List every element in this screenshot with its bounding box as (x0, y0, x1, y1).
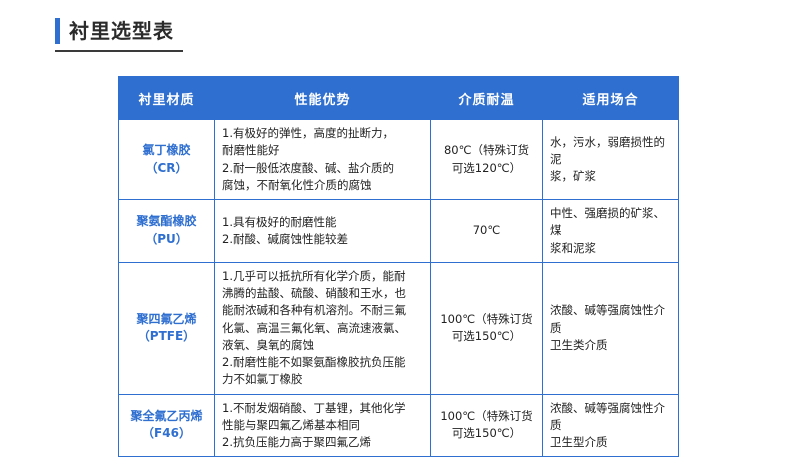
lining-selection-table: 衬里材质 性能优势 介质耐温 适用场合 氯丁橡胶 （CR） 1.有极好的弹性，高… (118, 76, 679, 457)
scene-line: 水，污水，弱磨损性的泥 (550, 134, 671, 169)
cell-material: 氯丁橡胶 （CR） (119, 120, 215, 200)
page-root: 衬里选型表 衬里材质 性能优势 介质耐温 适用场合 氯丁橡胶 （CR） (0, 0, 790, 423)
performance-line: 1.具有极好的耐磨性能 (222, 214, 423, 231)
table-row: 聚氨酯橡胶 （PU） 1.具有极好的耐磨性能 2.耐酸、碱腐蚀性能较差 70℃ … (119, 200, 679, 263)
material-line: （PTFE） (126, 328, 207, 345)
performance-line: 2.抗负压能力高于聚四氟乙烯 (222, 434, 423, 451)
performance-line: 沸腾的盐酸、硫酸、硝酸和王水，也 (222, 285, 423, 302)
table-row: 氯丁橡胶 （CR） 1.有极好的弹性，高度的扯断力， 耐磨性能好 2.耐一般低浓… (119, 120, 679, 200)
performance-line: 液氧、臭氧的腐蚀 (222, 337, 423, 354)
table-row: 聚四氟乙烯 （PTFE） 1.几乎可以抵抗所有化学介质，能耐 沸腾的盐酸、硫酸、… (119, 262, 679, 394)
cell-performance: 1.几乎可以抵抗所有化学介质，能耐 沸腾的盐酸、硫酸、硝酸和王水，也 能耐浓碱和… (215, 262, 431, 394)
material-line: （PU） (126, 231, 207, 248)
cell-temperature: 100℃（特殊订货 可选150℃） (431, 394, 543, 457)
table-header-row: 衬里材质 性能优势 介质耐温 适用场合 (119, 77, 679, 120)
performance-line: 化氯、高温三氟化氧、高流速液氯、 (222, 320, 423, 337)
table-body: 氯丁橡胶 （CR） 1.有极好的弹性，高度的扯断力， 耐磨性能好 2.耐一般低浓… (119, 120, 679, 457)
material-line: 聚氨酯橡胶 (126, 213, 207, 230)
column-header-material: 衬里材质 (119, 77, 215, 120)
scene-line: 浆，矿浆 (550, 168, 671, 185)
cell-temperature: 70℃ (431, 200, 543, 263)
column-header-scene: 适用场合 (543, 77, 679, 120)
performance-line: 2.耐酸、碱腐蚀性能较差 (222, 231, 423, 248)
table-header: 衬里材质 性能优势 介质耐温 适用场合 (119, 77, 679, 120)
table-row: 聚全氟乙丙烯 （F46） 1.不耐发烟硝酸、丁基锂，其他化学 性能与聚四氟乙烯基… (119, 394, 679, 457)
material-line: 氯丁橡胶 (126, 142, 207, 159)
column-header-temperature: 介质耐温 (431, 77, 543, 120)
temperature-line: 可选120℃） (438, 160, 535, 177)
cell-scene: 水，污水，弱磨损性的泥 浆，矿浆 (543, 120, 679, 200)
material-line: （F46） (126, 425, 207, 442)
cell-scene: 浓酸、碱等强腐蚀性介质 卫生类介质 (543, 262, 679, 394)
cell-material: 聚四氟乙烯 （PTFE） (119, 262, 215, 394)
column-header-performance: 性能优势 (215, 77, 431, 120)
performance-line: 性能与聚四氟乙烯基本相同 (222, 417, 423, 434)
temperature-line: 80℃（特殊订货 (438, 142, 535, 159)
temperature-line: 100℃（特殊订货 (438, 311, 535, 328)
performance-line: 1.不耐发烟硝酸、丁基锂，其他化学 (222, 400, 423, 417)
cell-scene: 浓酸、碱等强腐蚀性介质 卫生型介质 (543, 394, 679, 457)
title-underline (55, 50, 183, 52)
cell-scene: 中性、强磨损的矿浆、煤 浆和泥浆 (543, 200, 679, 263)
scene-line: 浓酸、碱等强腐蚀性介质 (550, 400, 671, 435)
scene-line: 中性、强磨损的矿浆、煤 (550, 205, 671, 240)
performance-line: 腐蚀，不耐氧化性介质的腐蚀 (222, 177, 423, 194)
title-accent-bar (55, 18, 60, 44)
performance-line: 力不如氯丁橡胶 (222, 371, 423, 388)
cell-temperature: 100℃（特殊订货 可选150℃） (431, 262, 543, 394)
cell-temperature: 80℃（特殊订货 可选120℃） (431, 120, 543, 200)
scene-line: 卫生型介质 (550, 434, 671, 451)
cell-performance: 1.具有极好的耐磨性能 2.耐酸、碱腐蚀性能较差 (215, 200, 431, 263)
performance-line: 能耐浓碱和各种有机溶剂。不耐三氟 (222, 302, 423, 319)
temperature-line: 可选150℃） (438, 328, 535, 345)
scene-line: 卫生类介质 (550, 337, 671, 354)
performance-line: 1.有极好的弹性，高度的扯断力， (222, 125, 423, 142)
scene-line: 浆和泥浆 (550, 240, 671, 257)
scene-line: 浓酸、碱等强腐蚀性介质 (550, 302, 671, 337)
cell-performance: 1.有极好的弹性，高度的扯断力， 耐磨性能好 2.耐一般低浓度酸、碱、盐介质的 … (215, 120, 431, 200)
cell-material: 聚氨酯橡胶 （PU） (119, 200, 215, 263)
performance-line: 2.耐磨性能不如聚氨酯橡胶抗负压能 (222, 354, 423, 371)
cell-performance: 1.不耐发烟硝酸、丁基锂，其他化学 性能与聚四氟乙烯基本相同 2.抗负压能力高于… (215, 394, 431, 457)
performance-line: 1.几乎可以抵抗所有化学介质，能耐 (222, 268, 423, 285)
page-title: 衬里选型表 (55, 18, 174, 44)
temperature-line: 70℃ (438, 222, 535, 239)
temperature-line: 可选150℃） (438, 425, 535, 442)
material-line: 聚四氟乙烯 (126, 311, 207, 328)
performance-line: 2.耐一般低浓度酸、碱、盐介质的 (222, 160, 423, 177)
material-line: （CR） (126, 160, 207, 177)
page-title-text: 衬里选型表 (69, 18, 174, 44)
cell-material: 聚全氟乙丙烯 （F46） (119, 394, 215, 457)
performance-line: 耐磨性能好 (222, 142, 423, 159)
